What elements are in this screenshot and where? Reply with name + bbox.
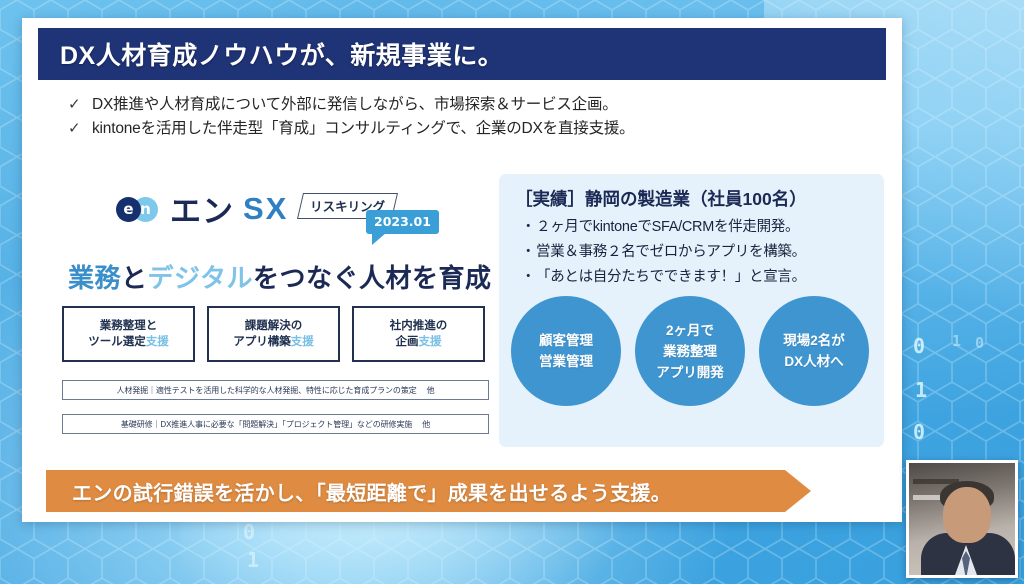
tagline-part-4: をつなぐ人材を育成 bbox=[253, 263, 492, 293]
case-study-heading: ［実績］静岡の製造業（社員100名） bbox=[515, 186, 807, 211]
summary-banner: エンの試行錯誤を活かし、「最短距離で」成果を出せるよう支援。 bbox=[46, 470, 811, 512]
case-study-list: ・ ２ヶ月でkintoneでSFA/CRMを伴走開発。 ・ 営業＆事務２名でゼロ… bbox=[521, 216, 871, 291]
outcome-circle: 現場2名が DX人材へ bbox=[759, 296, 869, 406]
service-box-line2: ツール選定支援 bbox=[88, 334, 169, 350]
slide-title-bar: DX人材育成ノウハウが、新規事業に。 bbox=[38, 28, 886, 80]
service-box: 業務整理と ツール選定支援 bbox=[62, 306, 195, 362]
en-logo-e: e bbox=[116, 197, 141, 222]
outcome-circle-line: 営業管理 bbox=[539, 351, 593, 372]
detail-bar-text: 人材発掘｜適性テストを活用した科学的な人材発掘、特性に応じた育成プランの策定 bbox=[116, 385, 416, 396]
detail-bar-tail: 他 bbox=[422, 419, 430, 430]
brand-logo-row: e n エン SX リスキリング bbox=[116, 186, 395, 231]
outcome-circle-line: アプリ開発 bbox=[656, 362, 724, 383]
en-logo-icon: e n bbox=[116, 195, 162, 223]
service-box-sup: 支援 bbox=[146, 336, 169, 348]
detail-bar: 人材発掘｜適性テストを活用した科学的な人材発掘、特性に応じた育成プランの策定 他 bbox=[62, 380, 489, 400]
outcome-circle-line: 顧客管理 bbox=[539, 330, 593, 351]
service-box-line1: 社内推進の bbox=[390, 318, 448, 334]
list-item-label: kintoneを活用した伴走型「育成」コンサルティングで、企業のDXを直接支援。 bbox=[92, 118, 634, 139]
check-icon: ✓ bbox=[68, 94, 92, 115]
service-box: 課題解決の アプリ構築支援 bbox=[207, 306, 340, 362]
brand-name-jp: エン bbox=[170, 186, 234, 231]
outcome-circle-line: DX人材へ bbox=[784, 351, 843, 372]
left-column: e n エン SX リスキリング 2023.01 業務とデジタルをつなぐ人材を育… bbox=[44, 176, 484, 461]
outcome-circle: 2ヶ月で 業務整理 アプリ開発 bbox=[635, 296, 745, 406]
outcome-circle-line: 2ヶ月で bbox=[666, 320, 714, 341]
list-item: ✓ kintoneを活用した伴走型「育成」コンサルティングで、企業のDXを直接支… bbox=[68, 118, 868, 139]
service-box-line1: 業務整理と bbox=[100, 318, 158, 334]
detail-bar-tail: 他 bbox=[427, 385, 435, 396]
list-item: ・ 「あとは自分たちでできます！」と宣言。 bbox=[521, 266, 871, 289]
tagline-part-2: と bbox=[121, 263, 148, 293]
bullet-icon: ・ bbox=[521, 266, 536, 289]
list-item: ・ 営業＆事務２名でゼロからアプリを構築。 bbox=[521, 241, 871, 264]
list-item: ・ ２ヶ月でkintoneでSFA/CRMを伴走開発。 bbox=[521, 216, 871, 239]
service-box-sup: 支援 bbox=[419, 336, 442, 348]
list-item: ✓ DX推進や人材育成について外部に発信しながら、市場探索＆サービス企画。 bbox=[68, 94, 868, 115]
detail-bar: 基礎研修｜DX推進人事に必要な「問題解決」「プロジェクト管理」などの研修実施 他 bbox=[62, 414, 489, 434]
service-box: 社内推進の 企画支援 bbox=[352, 306, 485, 362]
presentation-slide: DX人材育成ノウハウが、新規事業に。 ✓ DX推進や人材育成について外部に発信し… bbox=[22, 18, 902, 522]
summary-banner-label: エンの試行錯誤を活かし、「最短距離で」成果を出せるよう支援。 bbox=[72, 477, 671, 506]
check-bullet-list: ✓ DX推進や人材育成について外部に発信しながら、市場探索＆サービス企画。 ✓ … bbox=[68, 94, 868, 142]
date-badge: 2023.01 bbox=[366, 210, 439, 234]
tagline-part-3: デジタル bbox=[148, 263, 253, 293]
outcome-circle-group: 顧客管理 営業管理 2ヶ月で 業務整理 アプリ開発 現場2名が DX人材へ bbox=[511, 296, 869, 406]
participant-face bbox=[943, 487, 991, 543]
bullet-icon: ・ bbox=[521, 241, 536, 264]
check-icon: ✓ bbox=[68, 118, 92, 139]
case-study-panel: ［実績］静岡の製造業（社員100名） ・ ２ヶ月でkintoneでSFA/CRM… bbox=[499, 174, 884, 447]
list-item-label: 「あとは自分たちでできます！」と宣言。 bbox=[536, 266, 806, 289]
brand-name-sx: SX bbox=[243, 191, 288, 227]
service-box-sup: 支援 bbox=[291, 336, 314, 348]
detail-bar-text: 基礎研修｜DX推進人事に必要な「問題解決」「プロジェクト管理」などの研修実施 bbox=[121, 419, 412, 430]
list-item-label: DX推進や人材育成について外部に発信しながら、市場探索＆サービス企画。 bbox=[92, 94, 618, 115]
service-box-line2: 企画支援 bbox=[396, 334, 442, 350]
list-item-label: 営業＆事務２名でゼロからアプリを構築。 bbox=[536, 241, 806, 264]
outcome-circle-line: 業務整理 bbox=[663, 341, 717, 362]
tagline-part-1: 業務 bbox=[68, 263, 121, 293]
slide-body: e n エン SX リスキリング 2023.01 業務とデジタルをつなぐ人材を育… bbox=[44, 176, 884, 461]
list-item-label: ２ヶ月でkintoneでSFA/CRMを伴走開発。 bbox=[536, 216, 799, 239]
bullet-icon: ・ bbox=[521, 216, 536, 239]
outcome-circle: 顧客管理 営業管理 bbox=[511, 296, 621, 406]
tagline: 業務とデジタルをつなぐ人材を育成 bbox=[68, 258, 488, 295]
outcome-circle-line: 現場2名が bbox=[783, 330, 845, 351]
webcam-thumbnail[interactable] bbox=[906, 460, 1018, 578]
page-title: DX人材育成ノウハウが、新規事業に。 bbox=[60, 36, 503, 72]
service-box-line1: 課題解決の bbox=[245, 318, 303, 334]
service-box-group: 業務整理と ツール選定支援 課題解決の アプリ構築支援 社内推進の 企画支援 bbox=[62, 306, 485, 362]
service-box-line2: アプリ構築支援 bbox=[233, 334, 314, 350]
